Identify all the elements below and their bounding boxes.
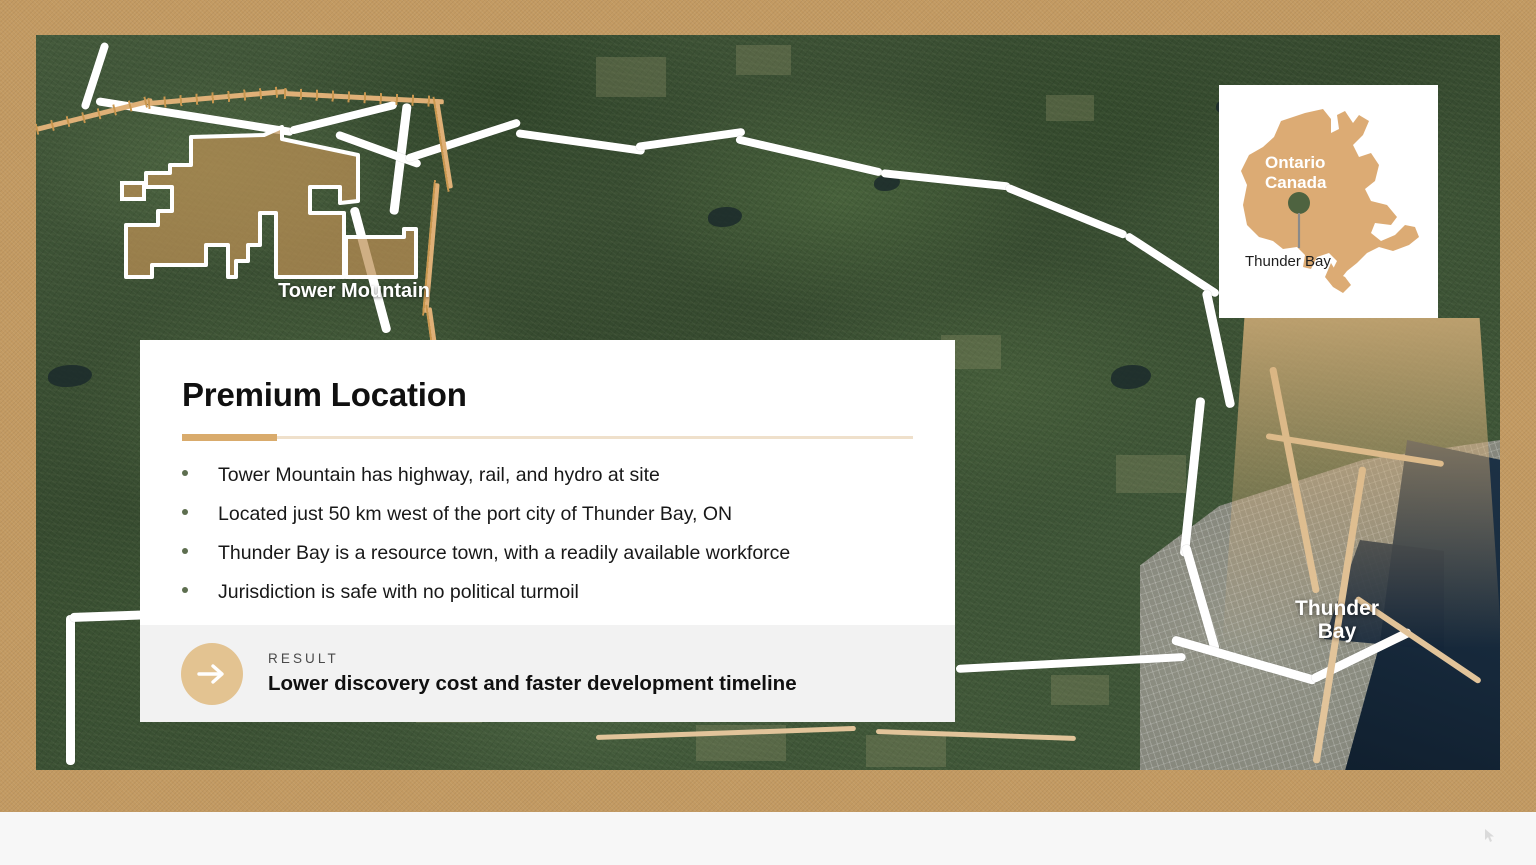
- map-patch: [596, 57, 666, 97]
- list-item-text: Located just 50 km west of the port city…: [218, 503, 732, 526]
- bullet-dot-icon: [182, 509, 188, 515]
- bullet-dot-icon: [182, 470, 188, 476]
- thunder-bay-map-label: Thunder Bay: [1262, 597, 1412, 643]
- cursor-artifact-icon: [1484, 828, 1497, 843]
- title-accent-rule: [182, 436, 913, 439]
- slide-root: Tower Mountain Thunder Bay Ontario Canad…: [0, 0, 1536, 865]
- page-title: Premium Location: [182, 376, 913, 414]
- inset-region-label: Ontario Canada: [1265, 153, 1326, 193]
- map-patch: [736, 45, 791, 75]
- map-patch: [866, 735, 946, 767]
- map-patch: [1051, 675, 1109, 705]
- list-item-text: Tower Mountain has highway, rail, and hy…: [218, 464, 660, 487]
- content-card: Premium Location Tower Mountain has high…: [140, 340, 955, 722]
- list-item: Thunder Bay is a resource town, with a r…: [182, 542, 913, 565]
- tower-mountain-claim[interactable]: Tower Mountain: [96, 125, 456, 365]
- map-patch: [1116, 455, 1186, 493]
- list-item: Jurisdiction is safe with no political t…: [182, 581, 913, 604]
- slide-bottom-strip: [0, 812, 1536, 865]
- result-text-group: RESULT Lower discovery cost and faster d…: [268, 651, 797, 696]
- highway-segment: [66, 615, 75, 765]
- ontario-shape-icon: [1219, 85, 1438, 318]
- bullet-dot-icon: [182, 587, 188, 593]
- card-body: Premium Location Tower Mountain has high…: [140, 340, 955, 604]
- list-item: Located just 50 km west of the port city…: [182, 503, 913, 526]
- ontario-inset-map[interactable]: Ontario Canada Thunder Bay: [1219, 85, 1438, 318]
- result-banner: RESULT Lower discovery cost and faster d…: [140, 625, 955, 722]
- list-item-text: Jurisdiction is safe with no political t…: [218, 581, 579, 604]
- bullet-list: Tower Mountain has highway, rail, and hy…: [182, 464, 913, 604]
- map-patch: [1046, 95, 1094, 121]
- bullet-dot-icon: [182, 548, 188, 554]
- thunder-bay-marker: [1288, 192, 1310, 214]
- list-item-text: Thunder Bay is a resource town, with a r…: [218, 542, 790, 565]
- tower-mountain-label: Tower Mountain: [274, 280, 434, 302]
- result-kicker: RESULT: [268, 651, 797, 666]
- result-icon-badge: [181, 643, 243, 705]
- arrow-right-icon: [197, 663, 227, 685]
- result-headline: Lower discovery cost and faster developm…: [268, 672, 797, 696]
- inset-city-label: Thunder Bay: [1245, 253, 1331, 270]
- list-item: Tower Mountain has highway, rail, and hy…: [182, 464, 913, 487]
